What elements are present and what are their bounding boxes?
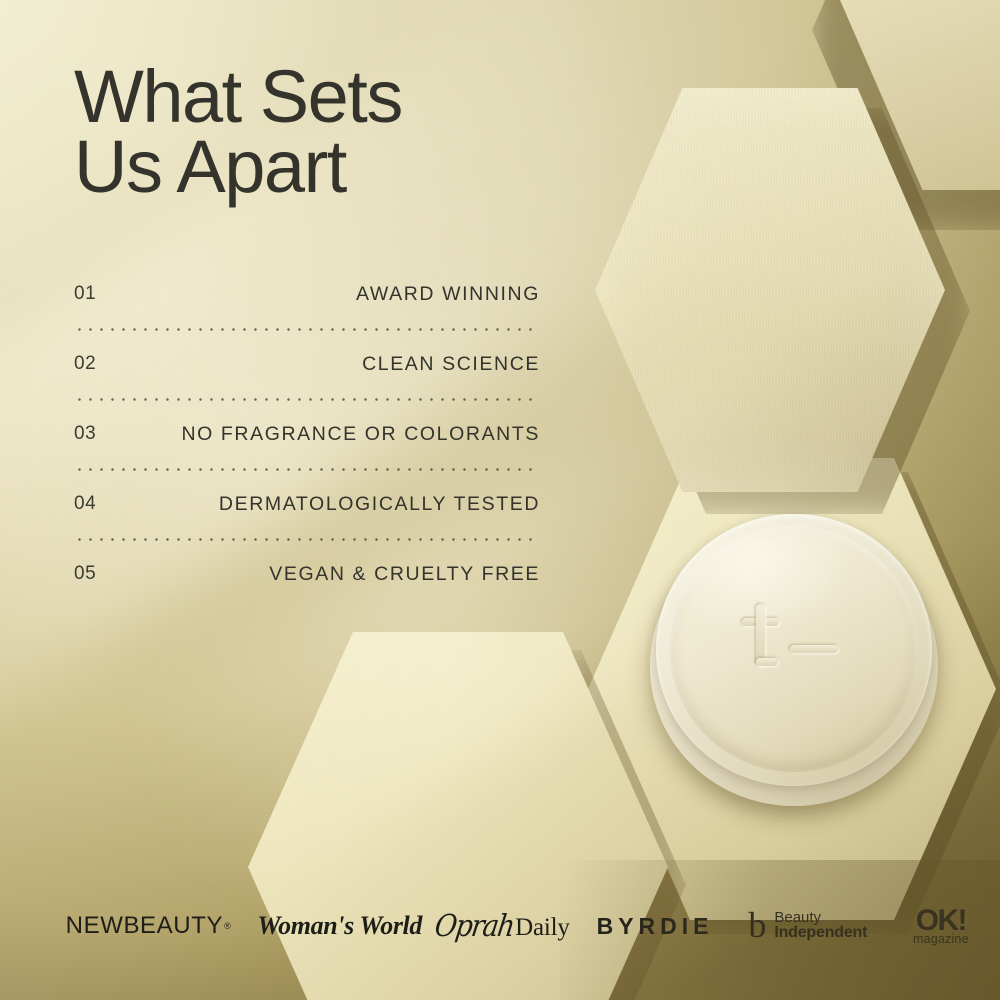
dotted-separator bbox=[74, 456, 540, 482]
monogram-dash bbox=[790, 645, 838, 653]
logo-beauty-independent: b Beauty Independent bbox=[734, 910, 882, 943]
list-item: 01 AWARD WINNING bbox=[74, 272, 540, 316]
product-jar bbox=[648, 512, 940, 804]
logo-womans-world-text: Woman's World bbox=[257, 911, 422, 941]
logo-womans-world: Woman's World bbox=[251, 911, 428, 941]
feature-label: NO FRAGRANCE OR COLORANTS bbox=[181, 423, 540, 446]
feature-number: 01 bbox=[74, 283, 96, 305]
beauty-independent-b-icon: b bbox=[748, 909, 766, 941]
logo-byrdie: BYRDIE bbox=[576, 913, 734, 940]
logo-ok-subtext: magazine bbox=[913, 934, 969, 945]
logo-newbeauty-trademark: ® bbox=[224, 921, 231, 931]
dotted-separator bbox=[74, 526, 540, 552]
monogram-t-stem bbox=[756, 604, 765, 666]
logo-beauty-independent-line2: Independent bbox=[774, 925, 867, 942]
feature-label: DERMATOLOGICALLY TESTED bbox=[219, 493, 540, 516]
logo-oprah-daily: Oprah Daily bbox=[428, 911, 576, 942]
logo-oprah-script: Oprah bbox=[432, 909, 515, 944]
dotted-separator bbox=[74, 386, 540, 412]
press-logo-row: NEWBEAUTY® Woman's World Oprah Daily BYR… bbox=[0, 898, 1000, 954]
feature-number: 05 bbox=[74, 563, 96, 585]
feature-number: 04 bbox=[74, 493, 96, 515]
feature-label: CLEAN SCIENCE bbox=[362, 353, 540, 376]
list-item: 03 NO FRAGRANCE OR COLORANTS bbox=[74, 412, 540, 456]
logo-byrdie-text: BYRDIE bbox=[597, 913, 714, 940]
logo-ok-text: OK! bbox=[916, 908, 966, 934]
logo-ok-magazine: OK! magazine bbox=[882, 908, 1000, 945]
brand-monogram-icon bbox=[734, 604, 854, 678]
feature-label: VEGAN & CRUELTY FREE bbox=[269, 563, 540, 586]
dotted-separator bbox=[74, 316, 540, 342]
feature-number: 03 bbox=[74, 423, 96, 445]
feature-number: 02 bbox=[74, 353, 96, 375]
feature-label: AWARD WINNING bbox=[356, 283, 540, 306]
list-item: 04 DERMATOLOGICALLY TESTED bbox=[74, 482, 540, 526]
logo-newbeauty-text: NEWBEAUTY bbox=[66, 912, 223, 940]
logo-beauty-independent-words: Beauty Independent bbox=[774, 910, 867, 943]
logo-beauty-independent-line1: Beauty bbox=[774, 910, 867, 926]
page-title: What Sets Us Apart bbox=[74, 62, 594, 203]
list-item: 05 VEGAN & CRUELTY FREE bbox=[74, 552, 540, 596]
poster-canvas: What Sets Us Apart 01 AWARD WINNING 02 C… bbox=[0, 0, 1000, 1000]
logo-newbeauty: NEWBEAUTY® bbox=[46, 912, 251, 940]
logo-oprah-daily-text: Daily bbox=[515, 914, 570, 942]
list-item: 02 CLEAN SCIENCE bbox=[74, 342, 540, 386]
feature-list: 01 AWARD WINNING 02 CLEAN SCIENCE 03 NO … bbox=[74, 272, 540, 596]
monogram-t-foot bbox=[756, 658, 778, 666]
